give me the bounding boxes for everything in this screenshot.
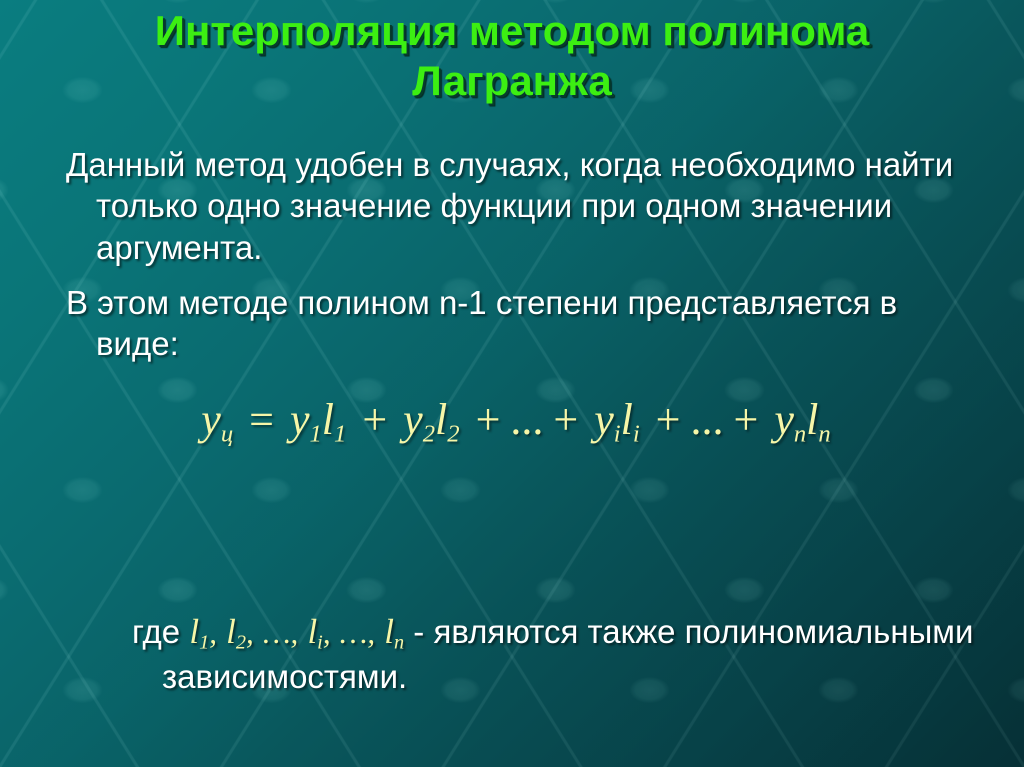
paragraph-polynomial-degree: В этом методе полином n-1 степени предст…: [66, 282, 966, 365]
formula-term-3: yili: [594, 395, 639, 444]
where-var-base: l: [307, 612, 317, 651]
where-ellipsis: …: [340, 615, 368, 650]
where-comma: ,: [367, 615, 375, 650]
where-var-subscript: n: [394, 631, 404, 653]
formula-term-l: l: [322, 395, 334, 444]
formula-plus: +: [651, 395, 686, 444]
where-comma: ,: [291, 615, 299, 650]
formula-lhs: yц: [201, 395, 233, 444]
formula-plus: +: [471, 395, 506, 444]
slide-body: Данный метод удобен в случаях, когда нео…: [66, 144, 966, 364]
paragraph-method-convenient: Данный метод удобен в случаях, когда нео…: [66, 144, 966, 268]
where-dash: -: [413, 613, 424, 650]
where-ellipsis: …: [263, 615, 291, 650]
paragraph-line: Данный метод удобен в случаях, когда: [66, 146, 661, 183]
formula-term-4: ynln: [774, 395, 830, 444]
formula-plus: +: [357, 395, 392, 444]
formula-term-l-subscript: i: [633, 420, 640, 447]
formula-term-l: l: [806, 395, 818, 444]
formula-lhs-subscript: ц: [221, 420, 233, 447]
formula-term-y: y: [403, 395, 423, 444]
where-var-4: ln: [384, 612, 404, 651]
where-prefix: где: [132, 613, 180, 650]
formula-ellipsis: ...: [686, 395, 729, 444]
where-comma: ,: [246, 615, 254, 650]
formula-term-l: l: [621, 395, 633, 444]
where-var-subscript: 2: [236, 631, 246, 653]
formula-term-y-subscript: n: [794, 420, 806, 447]
formula-term-l: l: [435, 395, 447, 444]
presentation-slide: Интерполяция методом полинома Лагранжа Д…: [0, 0, 1024, 767]
where-var-3: li: [307, 612, 322, 651]
formula-term-y: y: [774, 395, 794, 444]
formula-plus: +: [729, 395, 764, 444]
paragraph-line: В этом методе полином n-1 степени: [66, 284, 618, 321]
where-var-base: l: [384, 612, 394, 651]
formula-term-2: y2l2: [403, 395, 459, 444]
formula-term-y-subscript: 2: [423, 420, 435, 447]
where-line1-tail: являются также: [433, 613, 675, 650]
slide-title-line-2: Лагранжа: [40, 56, 984, 106]
formula-term-l-subscript: 1: [334, 420, 346, 447]
slide-content: Интерполяция методом полинома Лагранжа Д…: [0, 0, 1024, 767]
formula-term-1: y1l1: [290, 395, 346, 444]
where-comma: ,: [323, 615, 331, 650]
formula-term-y: y: [594, 395, 614, 444]
lagrange-polynomial-formula: yц = y1l1 + y2l2 +...+ yili +...+ ynln: [66, 394, 966, 448]
formula-lhs-base: y: [201, 395, 221, 444]
formula-equals: =: [244, 395, 279, 444]
formula-term-y-subscript: i: [614, 420, 621, 447]
where-var-base: l: [189, 612, 199, 651]
where-paragraph: где l1, l2, …, li, …, ln - являются такж…: [132, 610, 1024, 697]
slide-title: Интерполяция методом полинома Лагранжа: [40, 6, 984, 107]
formula-ellipsis: ...: [505, 395, 548, 444]
formula-term-l-subscript: n: [818, 420, 830, 447]
where-var-1: l1: [189, 612, 209, 651]
slide-title-line-1: Интерполяция методом полинома: [40, 6, 984, 56]
where-comma: ,: [209, 615, 217, 650]
where-explanation: где l1, l2, …, li, …, ln - являются такж…: [132, 610, 1024, 697]
where-var-2: l2: [226, 612, 246, 651]
where-var-subscript: 1: [199, 631, 209, 653]
formula-term-y-subscript: 1: [309, 420, 321, 447]
formula-plus: +: [548, 395, 583, 444]
formula-term-l-subscript: 2: [447, 420, 459, 447]
where-var-base: l: [226, 612, 236, 651]
formula-term-y: y: [290, 395, 310, 444]
